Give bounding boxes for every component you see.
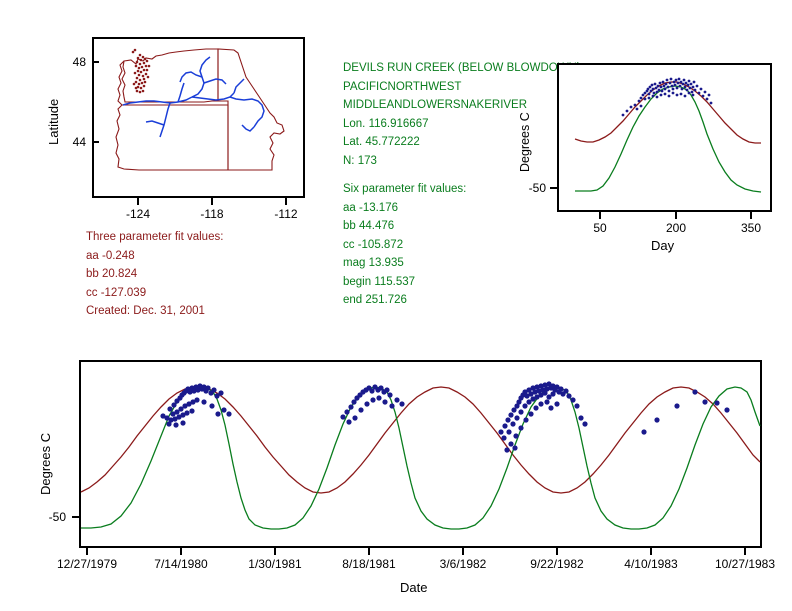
map-axis-ticks [78, 30, 318, 210]
inset-ytick-minus50: -50 [508, 181, 546, 195]
main-xtick-5: 3/6/1982 [418, 557, 508, 571]
three-parameter-aa: aa -0.248 [86, 247, 223, 266]
three-parameter-fit-block: Three parameter fit values: aa -0.248 bb… [86, 228, 223, 321]
inset-xtick-50: 50 [570, 221, 630, 235]
main-xtick-1: 12/27/1979 [42, 557, 132, 571]
six-parameter-bb: bb 44.476 [343, 217, 466, 236]
created-date: Created: Dec. 31, 2001 [86, 302, 223, 321]
map-ytick-44: 44 [62, 135, 86, 149]
main-xtick-3: 1/30/1981 [230, 557, 320, 571]
three-parameter-bb: bb 20.824 [86, 265, 223, 284]
inset-axis-ticks [543, 56, 783, 226]
main-axis-ticks [60, 352, 780, 562]
main-xtick-7: 4/10/1983 [606, 557, 696, 571]
main-xtick-6: 9/22/1982 [512, 557, 602, 571]
six-parameter-aa: aa -13.176 [343, 199, 466, 218]
inset-ylabel-degrees-c: Degrees C [518, 112, 532, 172]
map-ytick-48: 48 [62, 55, 86, 69]
six-parameter-begin: begin 115.537 [343, 273, 466, 292]
main-ylabel-degrees-c: Degrees C [38, 433, 53, 495]
six-parameter-cc: cc -105.872 [343, 236, 466, 255]
main-xtick-8: 10/27/1983 [700, 557, 790, 571]
six-parameter-heading: Six parameter fit values: [343, 180, 466, 199]
three-parameter-cc: cc -127.039 [86, 284, 223, 303]
map-xtick-minus124: -124 [108, 207, 168, 221]
six-parameter-end: end 251.726 [343, 291, 466, 310]
six-parameter-fit-block: Six parameter fit values: aa -13.176 bb … [343, 180, 466, 310]
map-ylabel-latitude: Latitude [46, 99, 61, 145]
three-parameter-heading: Three parameter fit values: [86, 228, 223, 247]
main-xlabel-date: Date [400, 580, 427, 595]
inset-xlabel-day: Day [651, 238, 674, 253]
map-xtick-minus112: -112 [256, 207, 316, 221]
main-ytick-minus50: -50 [28, 510, 66, 524]
main-xtick-4: 8/18/1981 [324, 557, 414, 571]
main-xtick-2: 7/14/1980 [136, 557, 226, 571]
inset-xtick-350: 350 [721, 221, 781, 235]
map-xtick-minus118: -118 [182, 207, 242, 221]
inset-xtick-200: 200 [646, 221, 706, 235]
six-parameter-mag: mag 13.935 [343, 254, 466, 273]
